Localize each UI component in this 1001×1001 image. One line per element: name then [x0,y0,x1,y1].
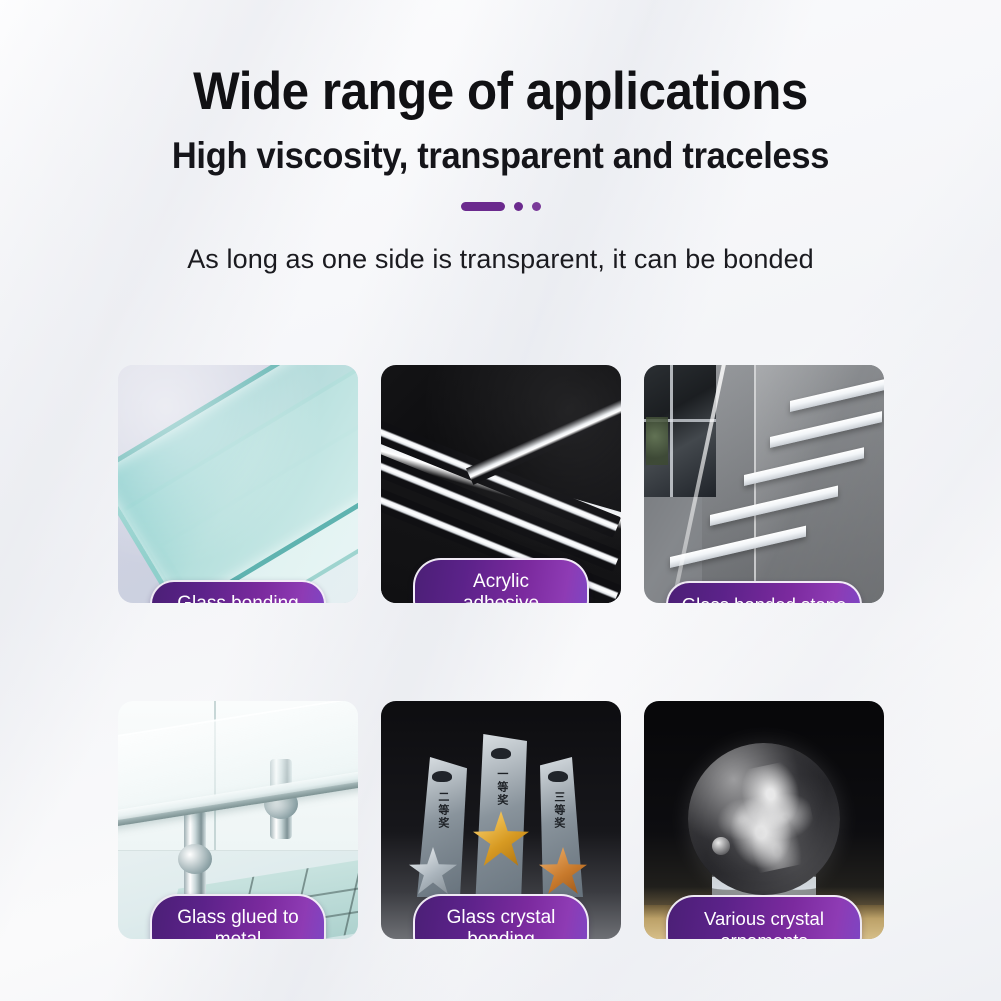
section-divider [0,200,1001,214]
trophy-text-first: 一等奖 [494,768,508,807]
chrome-leg-1 [184,811,206,897]
card-label-glass-glued-to-metal[interactable]: Glass glued to metal [150,894,326,939]
trophy-text-second: 二等奖 [435,791,449,830]
card-label-various-crystal-ornaments[interactable]: Various crystal ornaments [666,895,862,939]
page-title: Wide range of applications [35,62,966,121]
foliage [646,417,668,465]
promo-page: Wide range of applications High viscosit… [0,0,1001,1001]
card-glass-crystal-bonding[interactable]: 二等奖 三等奖 一等奖 Glass crystal bonding [381,701,621,939]
divider-dot-1 [514,202,523,211]
card-acrylic-adhesive[interactable]: Acrylic adhesive [381,365,621,603]
page-header: Wide range of applications High viscosit… [0,0,1001,275]
card-various-crystal-ornaments[interactable]: Various crystal ornaments [644,701,884,939]
shelf-grid-line-3 [344,859,358,935]
trophy-logo-icon [548,771,568,782]
etched-dragon-icon [706,758,822,880]
etched-pearl-icon [712,837,730,855]
card-label-glass-bonding[interactable]: Glass bonding [150,580,326,603]
crystal-sphere [688,743,840,895]
glass-highlight [118,365,358,603]
card-glass-glued-to-metal[interactable]: Glass glued to metal [118,701,358,939]
glass-staircase-image [644,365,884,603]
card-row-2: Glass glued to metal 二等奖 三等奖 一等奖 [118,701,884,939]
card-row-1: Glass bonding Acrylic adhesive [118,365,884,603]
trophy-logo-icon [432,771,452,782]
card-glass-bonded-stone[interactable]: Glass bonded stone [644,365,884,603]
card-label-glass-bonded-stone[interactable]: Glass bonded stone [666,581,862,603]
trophy-text-third: 三等奖 [551,791,565,830]
trophy-logo-icon [491,748,511,759]
page-tagline: As long as one side is transparent, it c… [0,244,1001,275]
card-glass-bonding[interactable]: Glass bonding [118,365,358,603]
card-label-glass-crystal-bonding[interactable]: Glass crystal bonding [413,894,589,939]
page-subtitle: High viscosity, transparent and traceles… [35,135,966,178]
application-grid: Glass bonding Acrylic adhesive [118,365,884,939]
card-label-acrylic-adhesive[interactable]: Acrylic adhesive [413,558,589,603]
divider-dot-2 [532,202,541,211]
divider-bar [461,202,505,211]
laminated-glass-image [118,365,358,603]
